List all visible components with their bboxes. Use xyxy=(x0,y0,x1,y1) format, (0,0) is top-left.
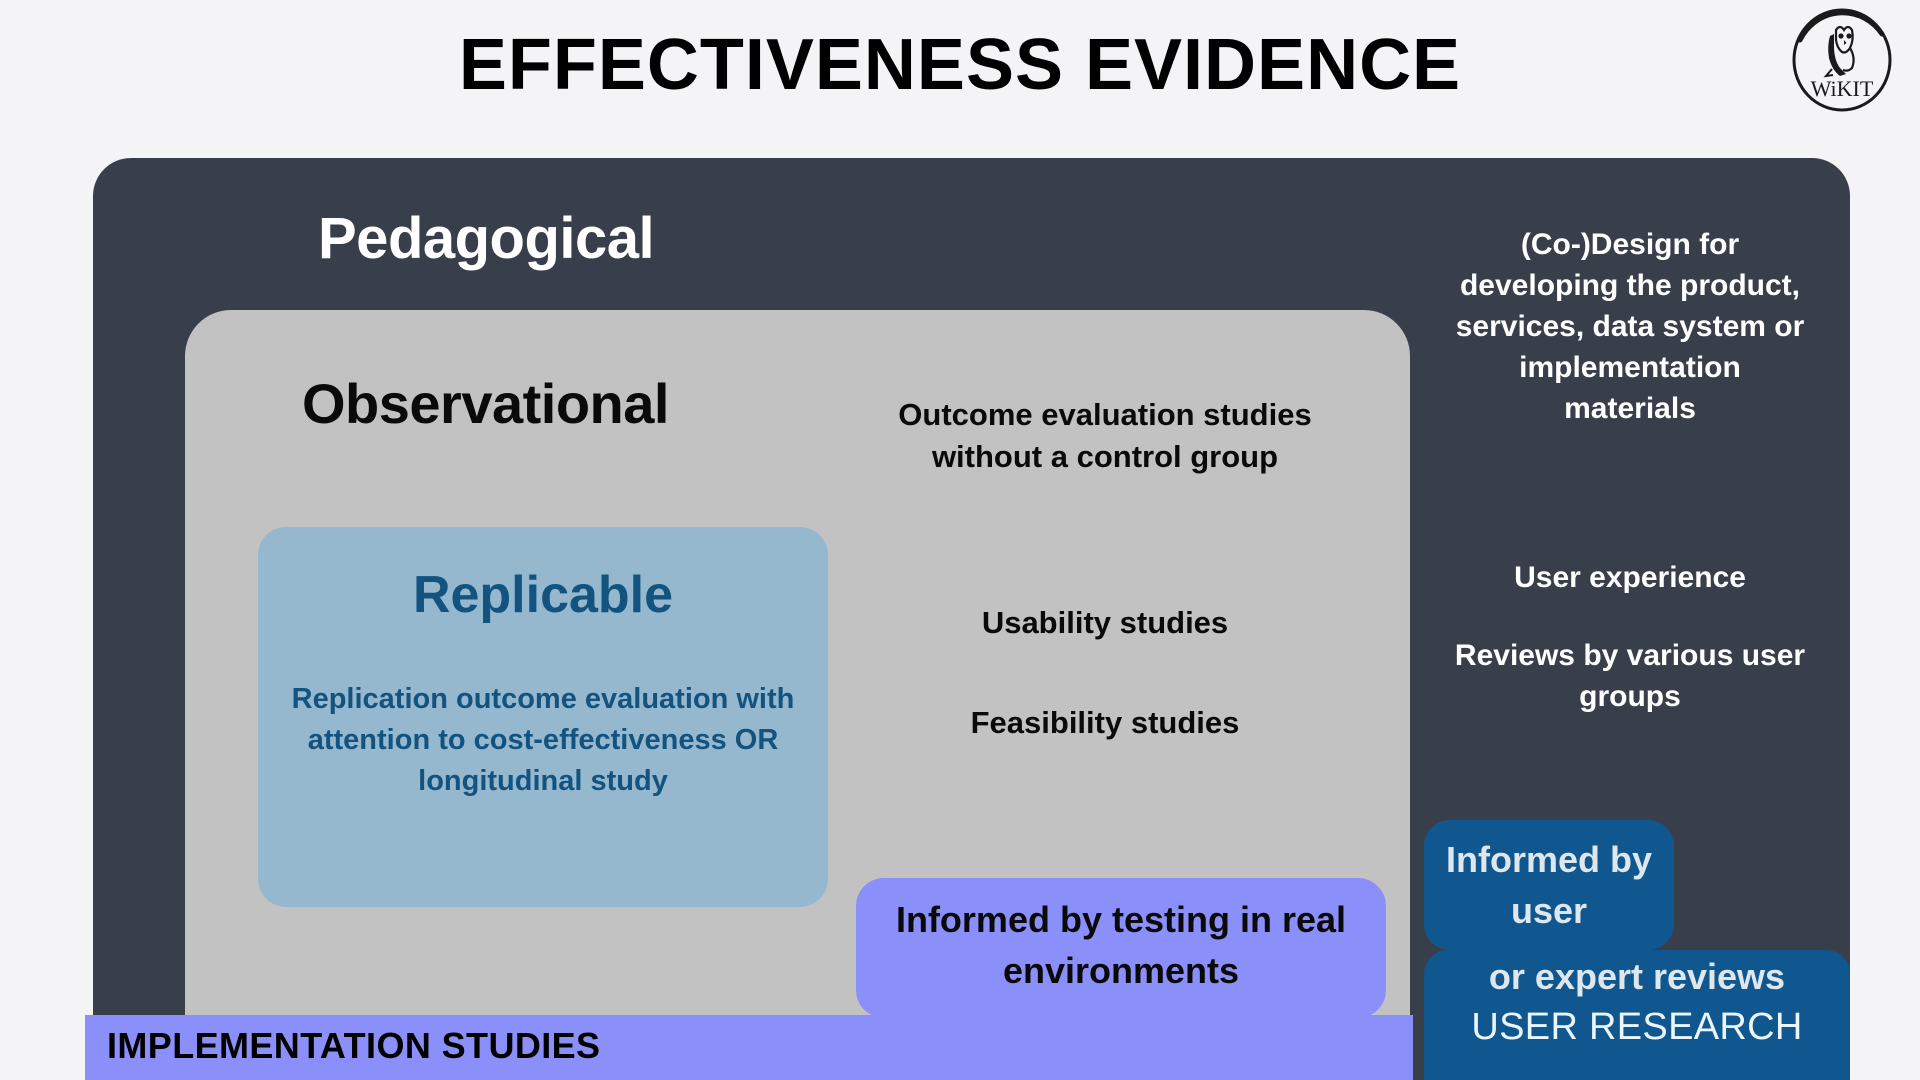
user-research-label: USER RESEARCH xyxy=(1424,1006,1850,1049)
observational-item-feasibility-studies: Feasibility studies xyxy=(890,702,1320,744)
observational-item-usability-studies: Usability studies xyxy=(890,602,1320,644)
testing-callout: Informed by testing in real environments xyxy=(856,878,1386,1018)
wikit-owl-logo: WiKIT xyxy=(1786,6,1898,118)
pedagogical-item-reviews: Reviews by various user groups xyxy=(1450,635,1810,717)
observational-heading: Observational xyxy=(302,371,669,436)
observational-item-outcome-evaluation: Outcome evaluation studies without a con… xyxy=(890,394,1320,477)
user-review-callout-second-line: or expert reviews xyxy=(1424,956,1850,998)
implementation-studies-band: IMPLEMENTATION STUDIES xyxy=(85,1015,1413,1080)
testing-callout-label: Informed by testing in real environments xyxy=(874,894,1368,996)
pedagogical-item-codesign: (Co-)Design for developing the product, … xyxy=(1450,224,1810,429)
user-research-band: or expert reviews USER RESEARCH xyxy=(1424,950,1850,1080)
page-title: EFFECTIVENESS EVIDENCE xyxy=(0,24,1920,106)
page-header: EFFECTIVENESS EVIDENCE WiKIT xyxy=(0,0,1920,158)
implementation-studies-label: IMPLEMENTATION STUDIES xyxy=(107,1025,600,1067)
user-review-callout-label: Informed by user xyxy=(1424,834,1674,937)
pedagogical-item-user-experience: User experience xyxy=(1450,557,1810,598)
replicable-box: Replicable Replication outcome evaluatio… xyxy=(258,527,828,907)
replicable-heading: Replicable xyxy=(258,565,828,625)
logo-wordmark: WiKIT xyxy=(1811,76,1874,101)
owl-logo-icon: WiKIT xyxy=(1786,6,1898,118)
replicable-description: Replication outcome evaluation with atte… xyxy=(282,679,804,803)
user-review-callout: Informed by user xyxy=(1424,820,1674,950)
pedagogical-heading: Pedagogical xyxy=(318,205,654,272)
